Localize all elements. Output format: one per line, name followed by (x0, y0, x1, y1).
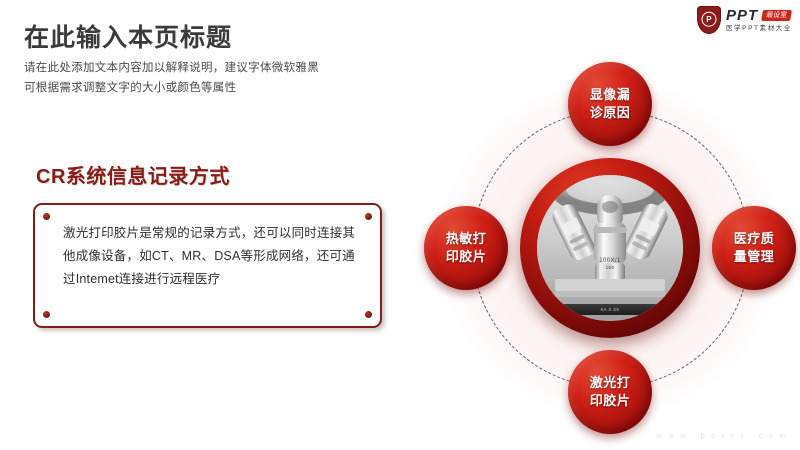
diagram-node-top[interactable]: 显像漏 诊原因 (568, 62, 652, 146)
diagram-node-top-text: 显像漏 诊原因 (590, 86, 631, 121)
diagram-node-right[interactable]: 医疗质 量管理 (712, 206, 796, 290)
node-right-line-1: 医疗质 (734, 230, 775, 248)
subtitle-line-1: 请在此处添加文本内容加以解释说明，建议字体微软雅黑 (24, 58, 444, 78)
stage-label: 0A 0.25 (555, 304, 666, 315)
microscope-image: 100X/1 160 0A 0.25 (537, 175, 683, 321)
corner-dot-top-right (365, 213, 372, 220)
node-left-line-1: 热敏打 (446, 230, 487, 248)
section-heading: CR系统信息记录方式 (36, 160, 230, 189)
node-bottom-line-2: 印胶片 (590, 392, 631, 410)
circular-diagram: 100X/1 160 0A 0.25 显像漏 诊原因 医疗质 量管理 激光打 印… (420, 58, 800, 440)
brand-logo: P PPT 最设室 医学PPT素材大全 (697, 6, 792, 36)
diagram-node-right-text: 医疗质 量管理 (734, 230, 775, 265)
logo-badge: 最设室 (761, 10, 792, 21)
logo-brand-text: PPT (726, 8, 758, 23)
diagram-node-left[interactable]: 热敏打 印胶片 (424, 206, 508, 290)
node-top-line-1: 显像漏 (590, 86, 631, 104)
corner-dot-bottom-left (43, 311, 50, 318)
info-box-text: 激光打印胶片是常规的记录方式，还可以同时连接其他成像设备，如CT、MR、DSA等… (63, 222, 360, 291)
logo-mark-letter: P (701, 12, 716, 27)
watermark: w w w . p p t e r . c o m (656, 431, 788, 440)
logo-primary-row: PPT 最设室 (726, 8, 792, 23)
objective-magnification-label: 100X/1 160 (599, 258, 620, 271)
page-subtitle: 请在此处添加文本内容加以解释说明，建议字体微软雅黑 可根据需求调整文字的大小或颜… (24, 58, 444, 98)
slide: P PPT 最设室 医学PPT素材大全 在此输入本页标题 请在此处添加文本内容加… (0, 0, 800, 450)
page-title: 在此输入本页标题 (24, 18, 232, 54)
corner-dot-bottom-right (365, 311, 372, 318)
logo-text-block: PPT 最设室 医学PPT素材大全 (726, 6, 792, 34)
node-bottom-line-1: 激光打 (590, 374, 631, 392)
diagram-node-left-text: 热敏打 印胶片 (446, 230, 487, 265)
diagram-node-bottom[interactable]: 激光打 印胶片 (568, 350, 652, 434)
node-left-line-2: 印胶片 (446, 248, 487, 266)
diagram-node-bottom-text: 激光打 印胶片 (590, 374, 631, 409)
logo-tagline: 医学PPT素材大全 (726, 26, 792, 33)
info-box: 激光打印胶片是常规的记录方式，还可以同时连接其他成像设备，如CT、MR、DSA等… (33, 203, 382, 328)
objective-mag-main: 100X/1 (599, 258, 620, 264)
node-top-line-2: 诊原因 (590, 104, 631, 122)
node-right-line-2: 量管理 (734, 248, 775, 266)
subtitle-line-2: 可根据需求调整文字的大小或颜色等属性 (24, 78, 444, 98)
objective-mag-sub: 160 (599, 265, 620, 270)
shield-icon: P (697, 6, 721, 34)
center-hub: 100X/1 160 0A 0.25 (520, 158, 700, 338)
corner-dot-top-left (43, 213, 50, 220)
